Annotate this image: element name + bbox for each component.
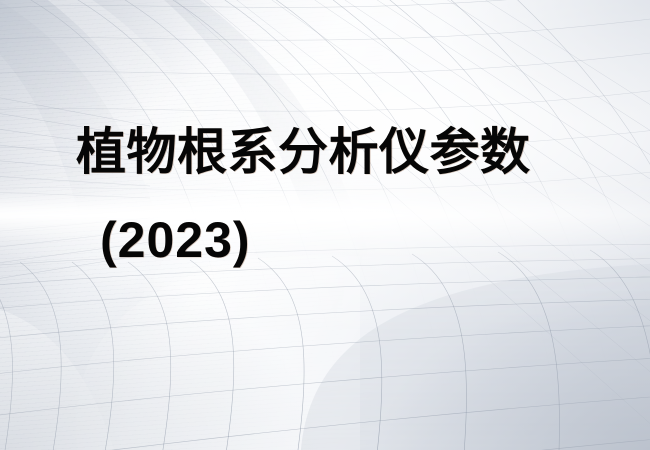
slide-canvas: 植物根系分析仪参数 (2023) bbox=[0, 0, 650, 450]
slide-subtitle-year: (2023) bbox=[100, 212, 251, 268]
slide-title: 植物根系分析仪参数 bbox=[76, 124, 531, 180]
title-text-block: 植物根系分析仪参数 (2023) bbox=[0, 0, 650, 450]
